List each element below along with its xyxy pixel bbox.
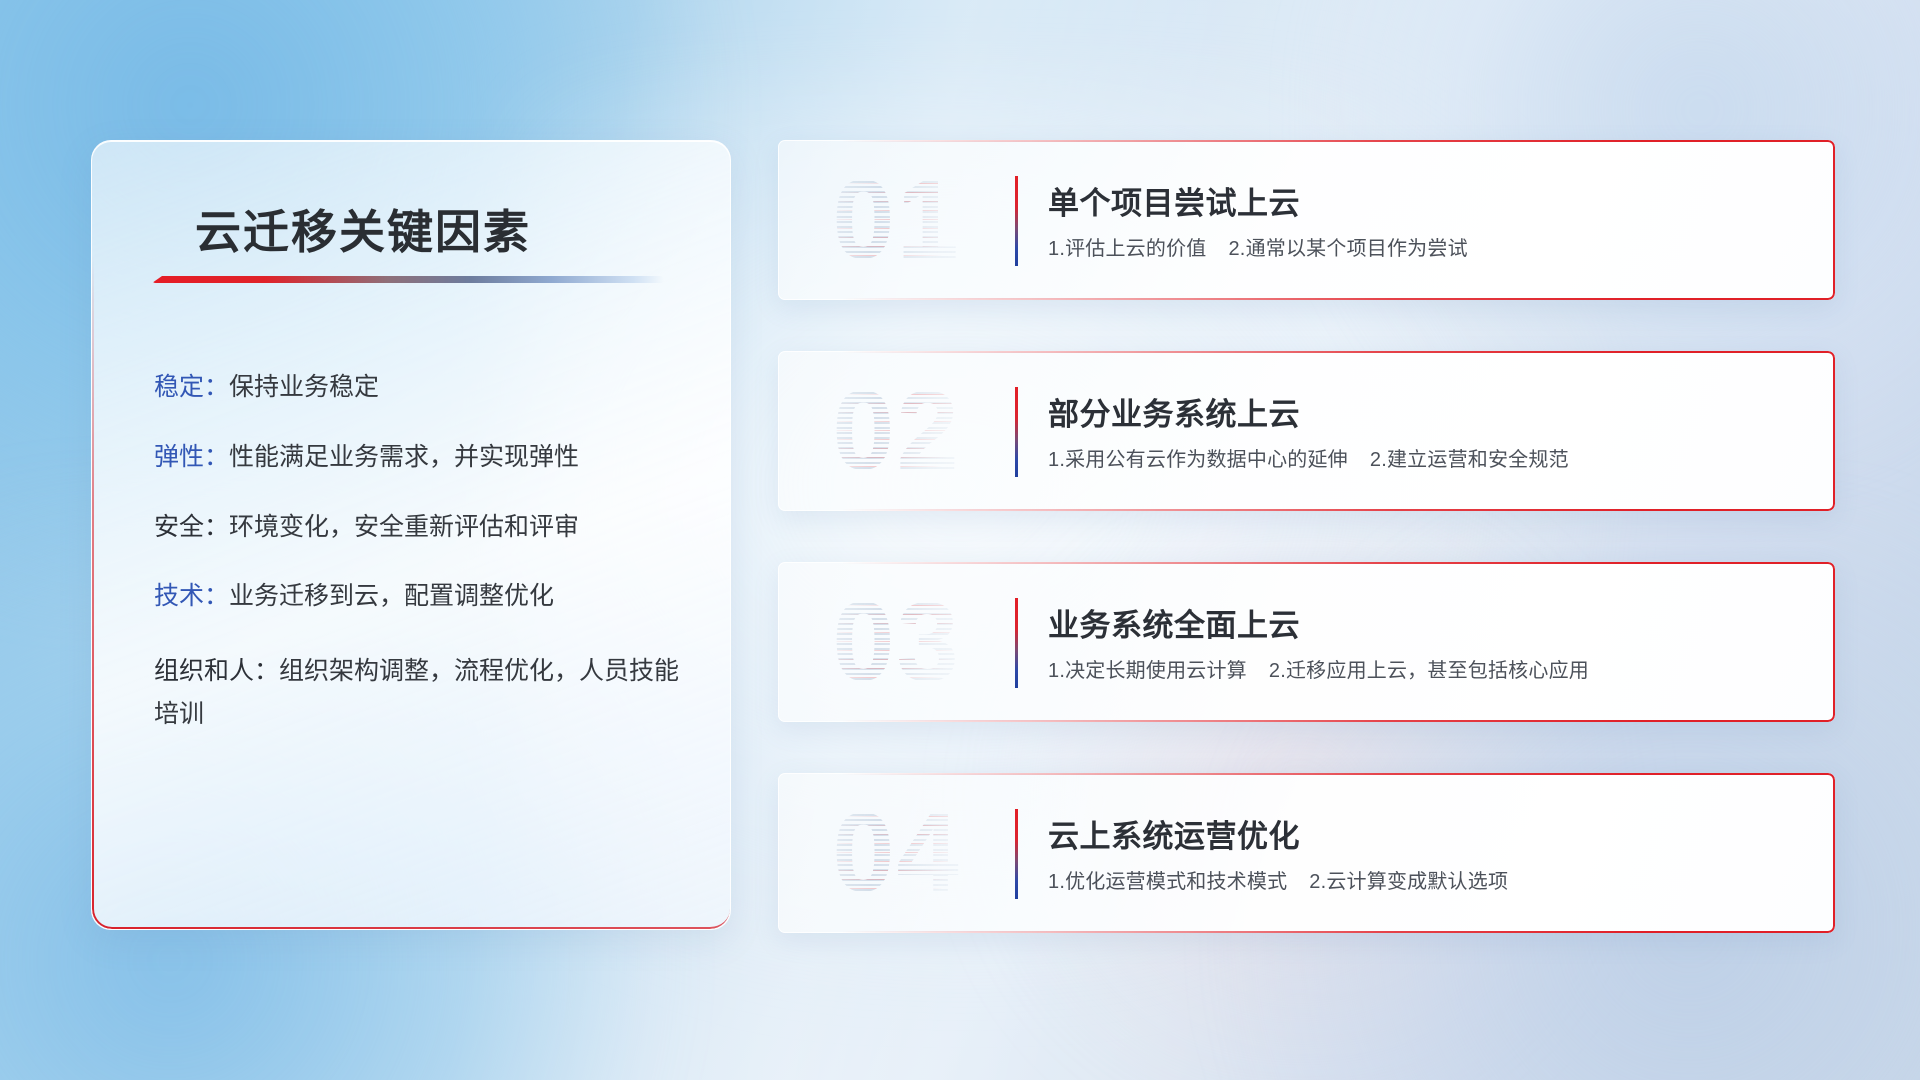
factor-label-4: 组织和人： [154, 657, 279, 685]
step-description-04: 1.优化运营模式和技术模式2.云计算变成默认选项 [1048, 865, 1508, 894]
factor-label-1: 弹性： [154, 443, 229, 471]
card-divider-line [1015, 387, 1018, 477]
card-divider-line [1015, 176, 1018, 266]
step-title-03: 业务系统全面上云 [1048, 600, 1300, 645]
factor-text-0: 保持业务稳定 [229, 373, 379, 401]
step-desc-item-1-1: 2.建立运营和安全规范 [1370, 449, 1569, 471]
step-description-01: 1.评估上云的价值2.通常以某个项目作为尝试 [1048, 232, 1468, 261]
factor-label-0: 稳定： [154, 373, 229, 401]
step-number-03: 03 [814, 578, 979, 706]
step-card-04[interactable]: 04 04 云上系统运营优化 1.优化运营模式和技术模式2.云计算变成默认选项 [778, 773, 1835, 933]
step-desc-item-2-0: 1.决定长期使用云计算 [1048, 660, 1247, 682]
step-title-01: 单个项目尝试上云 [1048, 178, 1300, 223]
step-number-01: 01 [814, 156, 979, 284]
card-divider-line [1015, 598, 1018, 688]
step-desc-item-2-1: 2.迁移应用上云，甚至包括核心应用 [1269, 660, 1589, 682]
list-item: 组织和人：组织架构调整，流程优化，人员技能培训 [154, 650, 684, 736]
card-divider-line [1015, 809, 1018, 899]
step-card-03[interactable]: 03 03 业务系统全面上云 1.决定长期使用云计算2.迁移应用上云，甚至包括核… [778, 562, 1835, 722]
slide-stage: 云迁移关键因素 稳定：保持业务稳定 弹性：性能满足业务需求，并实现弹性 安全：环… [0, 0, 1920, 1080]
step-card-02[interactable]: 02 02 部分业务系统上云 1.采用公有云作为数据中心的延伸2.建立运营和安全… [778, 351, 1835, 511]
step-desc-item-1-0: 1.采用公有云作为数据中心的延伸 [1048, 449, 1348, 471]
list-item: 安全：环境变化，安全重新评估和评审 [154, 511, 684, 545]
step-desc-item-0-0: 1.评估上云的价值 [1048, 238, 1206, 260]
step-card-01[interactable]: 01 01 单个项目尝试上云 1.评估上云的价值2.通常以某个项目作为尝试 [778, 140, 1835, 300]
factor-text-2: 环境变化，安全重新评估和评审 [229, 513, 579, 541]
factor-text-3: 业务迁移到云，配置调整优化 [229, 582, 554, 610]
factor-label-2: 安全： [154, 513, 229, 541]
factor-text-1: 性能满足业务需求，并实现弹性 [229, 443, 579, 471]
key-factors-list: 稳定：保持业务稳定 弹性：性能满足业务需求，并实现弹性 安全：环境变化，安全重新… [154, 371, 684, 736]
title-underline-rule [152, 276, 664, 283]
list-item: 稳定：保持业务稳定 [154, 371, 684, 405]
list-item: 技术：业务迁移到云，配置调整优化 [154, 580, 684, 614]
step-desc-item-0-1: 2.通常以某个项目作为尝试 [1228, 238, 1467, 260]
step-description-03: 1.决定长期使用云计算2.迁移应用上云，甚至包括核心应用 [1048, 654, 1589, 683]
step-number-02: 02 [814, 367, 979, 495]
list-item: 弹性：性能满足业务需求，并实现弹性 [154, 441, 684, 475]
step-title-04: 云上系统运营优化 [1048, 811, 1300, 856]
step-number-04: 04 [814, 789, 979, 917]
step-title-02: 部分业务系统上云 [1048, 389, 1300, 434]
step-description-02: 1.采用公有云作为数据中心的延伸2.建立运营和安全规范 [1048, 443, 1569, 472]
key-factors-panel: 云迁移关键因素 稳定：保持业务稳定 弹性：性能满足业务需求，并实现弹性 安全：环… [91, 140, 731, 930]
step-desc-item-3-1: 2.云计算变成默认选项 [1309, 871, 1508, 893]
factor-label-3: 技术： [154, 582, 229, 610]
page-title: 云迁移关键因素 [195, 196, 531, 262]
step-desc-item-3-0: 1.优化运营模式和技术模式 [1048, 871, 1287, 893]
